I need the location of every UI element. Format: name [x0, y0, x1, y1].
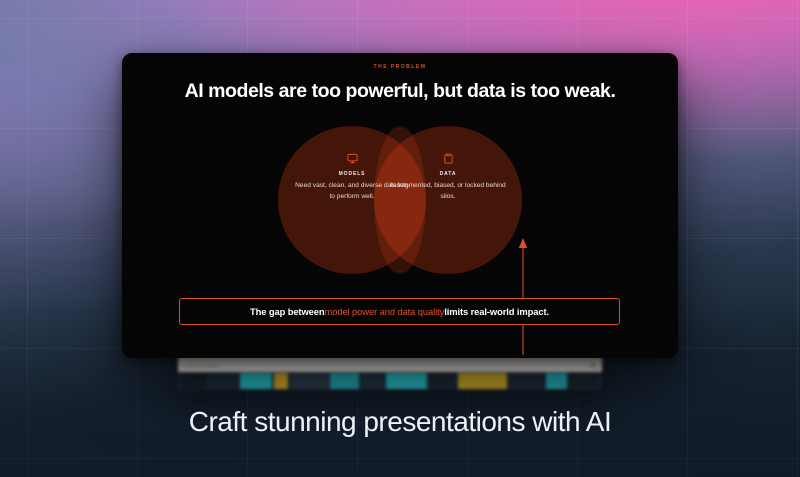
callout-suffix: limits real-world impact.: [444, 306, 549, 317]
background-window-toolbar: Untitled Presentation: [178, 359, 602, 372]
monitor-icon: [347, 153, 358, 164]
background-window-slide-strip: [178, 372, 602, 390]
slide-thumbnail[interactable]: [429, 373, 456, 389]
venn-diagram: MODELS Need vast, clean, and diverse dat…: [122, 126, 678, 286]
slide-thumbnail[interactable]: [209, 373, 238, 389]
venn-group-data: DATA Is fragmented, biased, or locked be…: [390, 153, 506, 203]
page-caption: Craft stunning presentations with AI: [0, 406, 800, 438]
slide-thumbnail[interactable]: [361, 373, 384, 389]
screenshot-root: Untitled Presentation THE PROBLEM AI mod…: [0, 0, 800, 477]
slide-thumbnail[interactable]: [290, 373, 328, 389]
venn-label-data: DATA: [390, 171, 506, 177]
clipboard-icon: [443, 153, 454, 164]
background-window-title-label: Untitled Presentation: [184, 364, 220, 368]
slide-thumbnail[interactable]: [386, 373, 426, 389]
slide-thumbnail[interactable]: [330, 373, 359, 389]
slide-thumbnail[interactable]: [509, 373, 544, 389]
image-icon[interactable]: [590, 363, 596, 368]
callout-box: The gap between model power and data qua…: [179, 298, 620, 325]
up-arrow-icon: [518, 237, 528, 355]
slide-thumbnail[interactable]: [240, 373, 273, 389]
slide-thumbnail[interactable]: [182, 373, 207, 389]
callout-highlight: model power and data quality: [325, 306, 445, 317]
slide-thumbnail[interactable]: [546, 373, 567, 389]
slide-thumbnail[interactable]: [458, 373, 508, 389]
venn-description-data: Is fragmented, biased, or locked behind …: [390, 181, 506, 203]
callout-prefix: The gap between: [250, 306, 325, 317]
slide-eyebrow-label: THE PROBLEM: [122, 64, 678, 70]
slide-thumbnail[interactable]: [274, 373, 287, 389]
slide-thumbnail[interactable]: [569, 373, 598, 389]
presentation-slide[interactable]: THE PROBLEM AI models are too powerful, …: [122, 53, 678, 358]
slide-title: AI models are too powerful, but data is …: [122, 80, 678, 103]
